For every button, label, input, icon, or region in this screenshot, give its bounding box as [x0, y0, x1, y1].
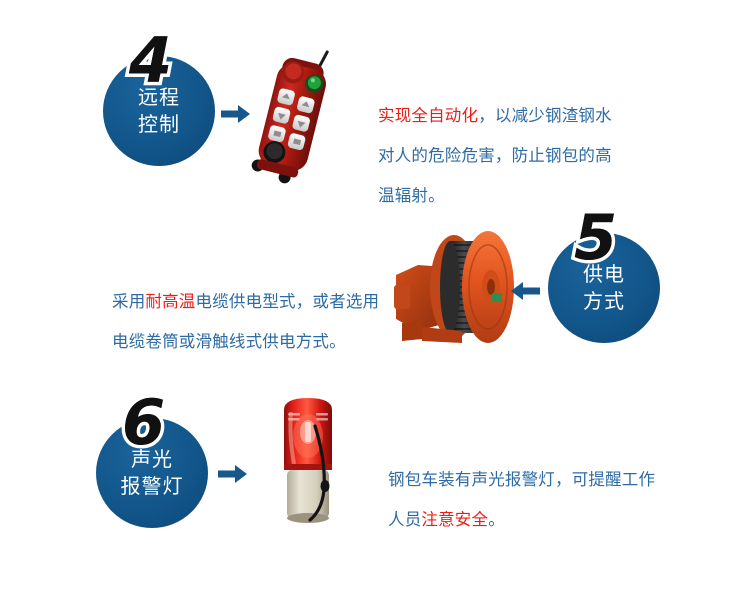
step-number: 6	[122, 392, 164, 454]
step-badge-6[interactable]: 6 6 声光 报警灯	[96, 396, 214, 528]
cable-reel-drum-image	[392, 227, 520, 347]
step-row-5: 采用耐高温电缆供电型式，或者选用 电缆卷筒或滑触线式供电方式。	[0, 197, 750, 382]
infographic-board: 4 4 远程 控制	[0, 0, 750, 589]
step-copy-6-highlight: 注意安全	[421, 510, 488, 529]
step-copy-5: 采用耐高温电缆供电型式，或者选用 电缆卷筒或滑触线式供电方式。	[112, 242, 412, 362]
step-copy-4-highlight: 实现全自动化	[378, 106, 478, 125]
arrow-right-icon	[218, 463, 248, 485]
arrow-left-icon	[510, 280, 540, 302]
step-badge-4[interactable]: 4 4 远程 控制	[103, 34, 221, 166]
step-row-6: 6 6 声光 报警灯	[0, 378, 750, 563]
step-copy-5-highlight: 耐高温	[145, 292, 195, 311]
remote-control-transmitter-image	[240, 40, 350, 190]
step-badge-5[interactable]: 5 5 供电 方式	[548, 211, 666, 343]
step-number: 4	[129, 30, 171, 92]
step-copy-5-lead: 采用	[112, 292, 145, 311]
step-copy-6: 钢包车装有声光报警灯，可提醒工作 人员注意安全。	[388, 420, 678, 540]
rotating-beacon-alarm-lamp-image	[258, 386, 358, 536]
step-row-4: 4 4 远程 控制	[0, 10, 750, 195]
step-copy-6-tail: 。	[488, 510, 505, 529]
step-copy-4: 实现全自动化，以减少钢渣钢水 对人的危险危害，防止钢包的高 温辐射。	[378, 56, 668, 216]
step-number: 5	[574, 207, 616, 269]
